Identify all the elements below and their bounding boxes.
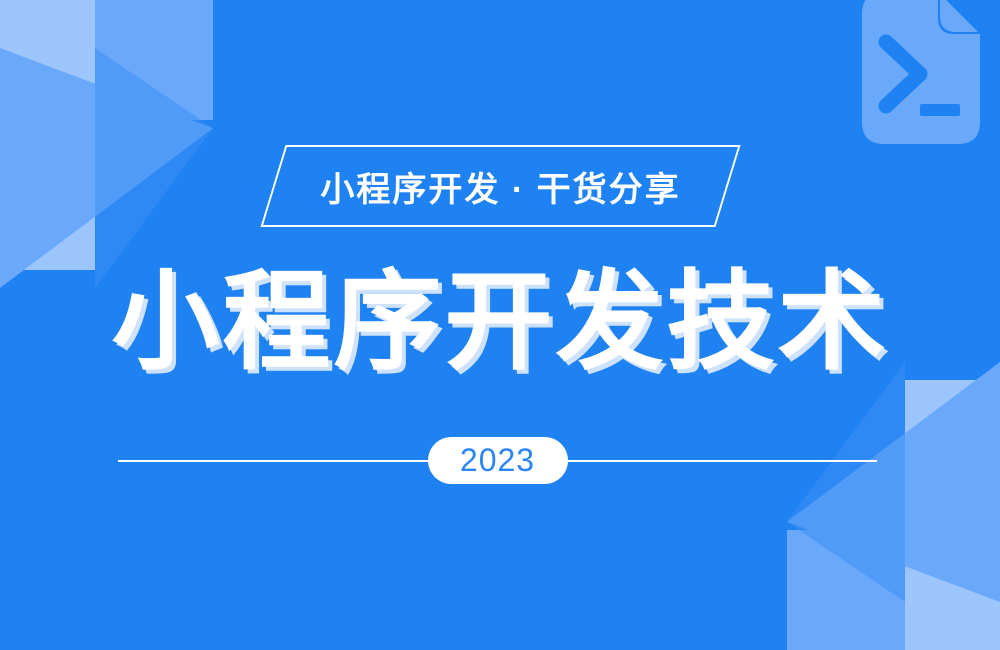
decor-bottom-right-rect	[787, 530, 905, 650]
decor-top-left-rect	[95, 0, 213, 120]
subtitle-banner: 小程序开发 · 干货分享	[0, 145, 1000, 227]
decor-top-left-band	[0, 0, 95, 270]
decor-bottom-right-band	[905, 380, 1000, 650]
year-badge: 2023	[428, 437, 568, 484]
poster-canvas: 小程序开发 · 干货分享 小程序开发技术 2023	[0, 0, 1000, 650]
year-rule-right	[568, 460, 878, 462]
title-container: 小程序开发技术	[0, 268, 1000, 376]
subtitle-parallelogram: 小程序开发 · 干货分享	[260, 145, 740, 227]
year-row: 2023	[118, 437, 877, 484]
page-title: 小程序开发技术	[111, 268, 888, 376]
code-file-icon	[862, 0, 980, 144]
year-rule-left	[118, 460, 428, 462]
subtitle-text: 小程序开发 · 干货分享	[275, 147, 726, 225]
